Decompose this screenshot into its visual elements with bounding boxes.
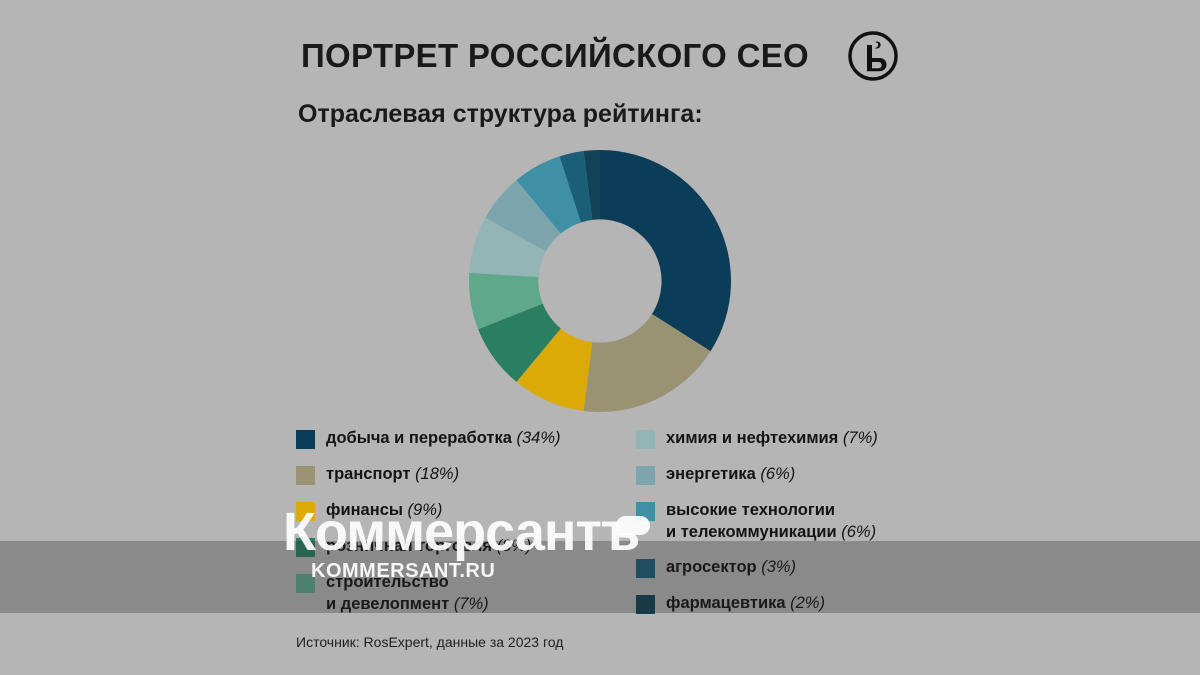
legend-item[interactable]: розничная торговля (8%): [296, 536, 596, 561]
legend-item[interactable]: химия и нефтехимия (7%): [636, 428, 936, 453]
legend-item[interactable]: высокие технологиии телекоммуникации (6%…: [636, 500, 936, 544]
legend-item[interactable]: добыча и переработка (34%): [296, 428, 596, 453]
legend-color-swatch: [296, 574, 315, 593]
kommersant-hard-sign-logo-icon: [847, 30, 899, 82]
donut-chart-svg: [469, 150, 731, 412]
legend-item-percent: (9%): [408, 501, 443, 519]
legend-column-right: химия и нефтехимия (7%)энергетика (6%)вы…: [636, 428, 936, 629]
legend-item-percent: (8%): [497, 537, 532, 555]
legend-item-label: высокие технологиии телекоммуникации (6%…: [666, 500, 876, 544]
legend-column-left: добыча и переработка (34%)транспорт (18%…: [296, 428, 596, 629]
legend-item-percent: (6%): [760, 465, 795, 483]
legend-color-swatch: [296, 430, 315, 449]
legend-item-label: химия и нефтехимия (7%): [666, 428, 878, 450]
legend-item-percent: (2%): [790, 594, 825, 612]
legend-item[interactable]: фармацевтика (2%): [636, 593, 936, 618]
legend-color-swatch: [636, 430, 655, 449]
legend-color-swatch: [636, 595, 655, 614]
legend-item[interactable]: финансы (9%): [296, 500, 596, 525]
legend-item[interactable]: энергетика (6%): [636, 464, 936, 489]
legend-item-percent: (7%): [454, 595, 489, 613]
header: ПОРТРЕТ РОССИЙСКОГО CEO: [0, 30, 1200, 82]
legend-color-swatch: [636, 502, 655, 521]
chart-subtitle: Отраслевая структура рейтинга:: [298, 100, 703, 129]
legend-item[interactable]: агросектор (3%): [636, 557, 936, 582]
legend-item-label: фармацевтика (2%): [666, 593, 825, 615]
legend-item-percent: (34%): [517, 429, 561, 447]
legend-item-percent: (3%): [761, 558, 796, 576]
legend-color-swatch: [296, 502, 315, 521]
legend-item-label: добыча и переработка (34%): [326, 428, 561, 450]
legend-item[interactable]: строительствои девелопмент (7%): [296, 572, 596, 616]
legend-item-label: агросектор (3%): [666, 557, 796, 579]
legend-item[interactable]: транспорт (18%): [296, 464, 596, 489]
legend-item-label: финансы (9%): [326, 500, 442, 522]
chart-legend: добыча и переработка (34%)транспорт (18%…: [296, 428, 936, 629]
legend-item-percent: (7%): [843, 429, 878, 447]
donut-slice: [600, 150, 731, 351]
legend-item-label: строительствои девелопмент (7%): [326, 572, 489, 616]
legend-item-percent: (18%): [415, 465, 459, 483]
legend-color-swatch: [296, 538, 315, 557]
legend-item-percent: (6%): [841, 523, 876, 541]
legend-color-swatch: [296, 466, 315, 485]
source-note: Источник: RosExpert, данные за 2023 год: [296, 634, 563, 650]
legend-item-label: энергетика (6%): [666, 464, 795, 486]
legend-item-label: транспорт (18%): [326, 464, 459, 486]
legend-color-swatch: [636, 559, 655, 578]
legend-item-label: розничная торговля (8%): [326, 536, 531, 558]
donut-chart: [469, 150, 731, 412]
legend-color-swatch: [636, 466, 655, 485]
page-title: ПОРТРЕТ РОССИЙСКОГО CEO: [301, 37, 809, 75]
